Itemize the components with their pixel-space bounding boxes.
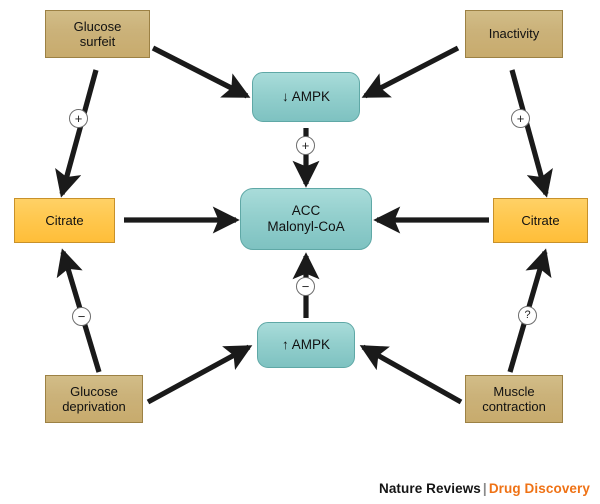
- node-glucose-surfeit[interactable]: Glucose surfeit: [45, 10, 150, 58]
- edge-glucose-deprivation-to-ampk-up: [148, 347, 249, 402]
- node-ampk-down-label: ↓ AMPK: [278, 89, 334, 105]
- footer-separator: |: [481, 481, 489, 496]
- node-glucose-deprivation-label: Glucose deprivation: [58, 384, 130, 415]
- edge-muscle-contraction-to-ampk-up: [363, 347, 461, 402]
- edge-inactivity-to-citrate-right: [512, 70, 546, 194]
- sign-glyph: +: [517, 112, 525, 125]
- sign-glyph: −: [78, 310, 86, 323]
- sign-glyph: ?: [524, 310, 530, 321]
- node-glucose-surfeit-label: Glucose surfeit: [70, 19, 126, 50]
- node-muscle-contraction[interactable]: Muscle contraction: [465, 375, 563, 423]
- node-muscle-contraction-label: Muscle contraction: [478, 384, 550, 415]
- sign-minus-ampk-up-to-acc: −: [296, 277, 315, 296]
- node-acc-malonyl-coa[interactable]: ACC Malonyl-CoA: [240, 188, 372, 250]
- node-citrate-left[interactable]: Citrate: [14, 198, 115, 243]
- node-inactivity[interactable]: Inactivity: [465, 10, 563, 58]
- edge-glucose-surfeit-to-citrate-left: [62, 70, 96, 194]
- footer-credit: Nature Reviews|Drug Discovery: [379, 481, 590, 496]
- node-ampk-up-label: ↑ AMPK: [278, 337, 334, 353]
- node-citrate-right-label: Citrate: [517, 213, 563, 228]
- node-acc-malonyl-coa-label: ACC Malonyl-CoA: [263, 203, 348, 235]
- sign-plus-inactivity-to-citrate: +: [511, 109, 530, 128]
- sign-plus-glucose-surfeit-to-citrate: +: [69, 109, 88, 128]
- node-inactivity-label: Inactivity: [485, 26, 544, 41]
- footer-journal: Nature Reviews: [379, 481, 481, 496]
- node-ampk-down[interactable]: ↓ AMPK: [252, 72, 360, 122]
- edge-inactivity-to-ampk-down: [365, 48, 458, 96]
- sign-question-muscle-contraction-to-citrate: ?: [518, 306, 537, 325]
- sign-plus-ampk-down-to-acc: +: [296, 136, 315, 155]
- sign-minus-glucose-deprivation-to-citrate: −: [72, 307, 91, 326]
- node-citrate-right[interactable]: Citrate: [493, 198, 588, 243]
- sign-glyph: +: [302, 139, 310, 152]
- node-citrate-left-label: Citrate: [41, 213, 87, 228]
- edge-glucose-surfeit-to-ampk-down: [153, 48, 247, 96]
- sign-glyph: +: [75, 112, 83, 125]
- node-glucose-deprivation[interactable]: Glucose deprivation: [45, 375, 143, 423]
- sign-glyph: −: [302, 280, 310, 293]
- figure-canvas: Glucose surfeit Inactivity ↓ AMPK Citrat…: [0, 0, 600, 504]
- node-ampk-up[interactable]: ↑ AMPK: [257, 322, 355, 368]
- footer-subtitle: Drug Discovery: [489, 481, 590, 496]
